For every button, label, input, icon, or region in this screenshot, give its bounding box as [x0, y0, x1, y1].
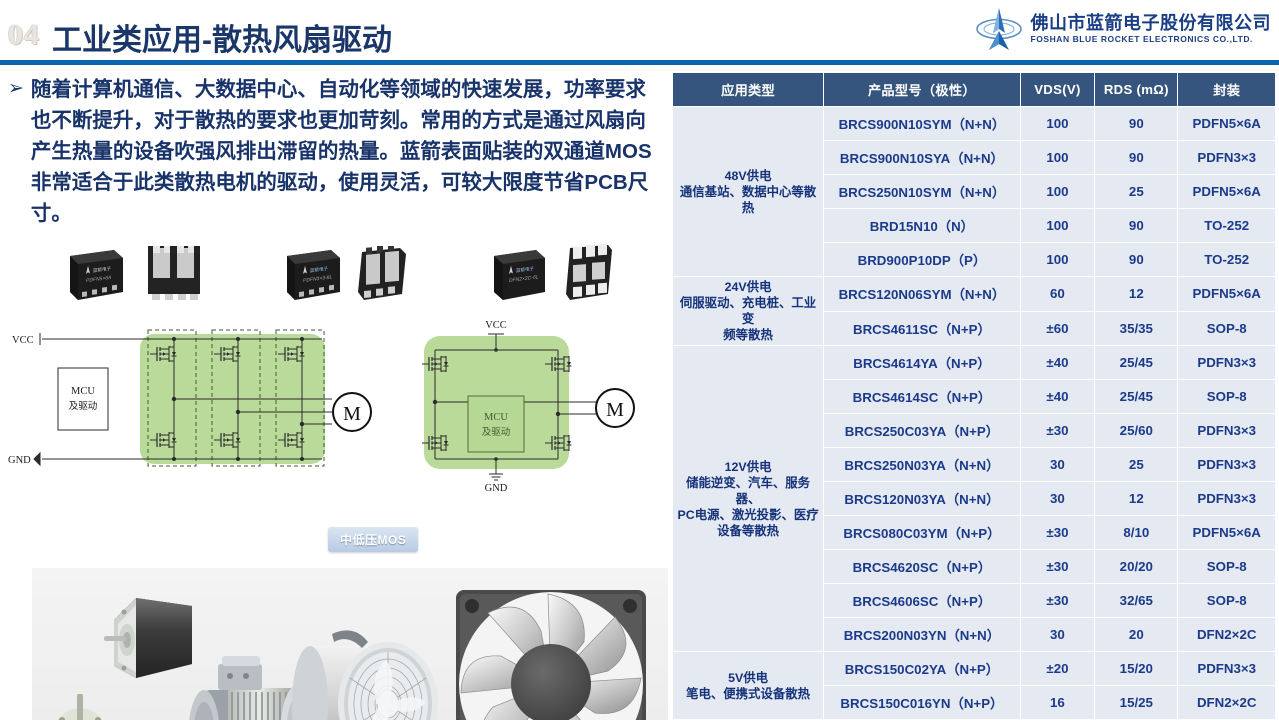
- cell-package: SOP-8: [1178, 584, 1275, 617]
- cell-part-number: BRD900P10DP（P）: [824, 243, 1020, 276]
- cell-package: PDFN5×6A: [1178, 175, 1275, 208]
- svg-text:M: M: [606, 399, 624, 421]
- cell-vds: 100: [1021, 243, 1095, 276]
- col-package: 封装: [1178, 73, 1275, 106]
- application-group-line: PC电源、激光投影、医疗: [677, 507, 819, 523]
- application-photo-band: [32, 568, 668, 720]
- cell-package: TO-252: [1178, 243, 1275, 276]
- application-group-line: 5V供电: [677, 670, 819, 686]
- svg-text:VCC: VCC: [12, 335, 34, 346]
- cell-rds: 25/45: [1095, 346, 1177, 379]
- cell-rds: 12: [1095, 277, 1177, 311]
- cell-rds: 20: [1095, 618, 1177, 651]
- svg-text:及驱动: 及驱动: [482, 427, 511, 438]
- cell-rds: 90: [1095, 209, 1177, 242]
- pdfn3x3-8l-package-pads: [352, 246, 412, 309]
- cell-part-number: BRCS4606SC（N+P）: [824, 584, 1020, 617]
- cell-vds: 100: [1021, 107, 1095, 140]
- svg-text:VCC: VCC: [485, 320, 507, 331]
- arrow-bullet-icon: ➢: [8, 74, 24, 104]
- header-accent-rule: [0, 60, 1279, 65]
- application-group-cell: 24V供电伺服驱动、充电桩、工业变频等散热: [673, 277, 823, 345]
- cell-part-number: BRCS250N03YA（N+N）: [824, 448, 1020, 481]
- cell-part-number: BRCS200N03YN（N+N）: [824, 618, 1020, 651]
- cell-vds: ±30: [1021, 414, 1095, 447]
- cell-rds: 25: [1095, 175, 1177, 208]
- cell-part-number: BRCS4611SC（N+P）: [824, 312, 1020, 346]
- svg-text:MCU: MCU: [71, 386, 95, 397]
- table-body: 48V供电通信基站、数据中心等散热BRCS900N10SYM（N+N）10090…: [673, 107, 1275, 719]
- cell-part-number: BRCS120N06SYM（N+N）: [824, 277, 1020, 311]
- page-title: 工业类应用-散热风扇驱动: [52, 15, 392, 59]
- stepper-motor: [104, 598, 192, 678]
- slide-header: 04 工业类应用-散热风扇驱动 佛山市蓝箭电子股份有限公司 FOSHAN BLU…: [0, 0, 1279, 62]
- application-group-line: 48V供电: [677, 168, 819, 184]
- cell-package: PDFN3×3: [1178, 414, 1275, 447]
- cell-package: PDFN5×6A: [1178, 277, 1275, 311]
- cell-package: TO-252: [1178, 209, 1275, 242]
- cell-part-number: BRCS900N10SYM（N+N）: [824, 107, 1020, 140]
- section-number: 04: [8, 18, 40, 52]
- application-group-line: 通信基站、数据中心等散热: [677, 184, 819, 216]
- cell-part-number: BRCS150C02YA（N+P）: [824, 652, 1020, 685]
- company-name-cn: 佛山市蓝箭电子股份有限公司: [1031, 14, 1272, 32]
- table-header-row: 应用类型 产品型号（极性） VDS(V) RDS (mΩ) 封装: [673, 73, 1275, 106]
- cell-vds: ±40: [1021, 380, 1095, 413]
- cell-vds: ±30: [1021, 516, 1095, 549]
- svg-text:M: M: [343, 403, 361, 425]
- col-rds: RDS (mΩ): [1095, 73, 1177, 106]
- intro-paragraph: 随着计算机通信、大数据中心、自动化等领域的快速发展，功率要求也不断提升，对于散热…: [31, 74, 663, 229]
- cell-rds: 90: [1095, 243, 1177, 276]
- cell-rds: 8/10: [1095, 516, 1177, 549]
- col-application-type: 应用类型: [673, 73, 823, 106]
- cell-package: SOP-8: [1178, 380, 1275, 413]
- cell-part-number: BRD15N10（N）: [824, 209, 1020, 242]
- cell-rds: 32/65: [1095, 584, 1177, 617]
- cell-vds: ±30: [1021, 584, 1095, 617]
- cell-part-number: BRCS4614SC（N+P）: [824, 380, 1020, 413]
- pdfn5x6a-package: 蓝箭电子 PDFN5×6A: [66, 248, 128, 309]
- cell-part-number: BRCS4614YA（N+P）: [824, 346, 1020, 379]
- col-vds: VDS(V): [1021, 73, 1095, 106]
- dfn2x2c-6l-package-pads: [560, 244, 620, 309]
- cell-vds: ±20: [1021, 652, 1095, 685]
- cell-package: PDFN3×3: [1178, 652, 1275, 685]
- cell-rds: 20/20: [1095, 550, 1177, 583]
- cell-vds: 60: [1021, 277, 1095, 311]
- cell-package: PDFN5×6A: [1178, 107, 1275, 140]
- cell-rds: 25/45: [1095, 380, 1177, 413]
- application-group-line: 24V供电: [677, 279, 819, 295]
- cell-part-number: BRCS250C03YA（N+P）: [824, 414, 1020, 447]
- cell-vds: ±60: [1021, 312, 1095, 346]
- application-group-line: 12V供电: [677, 459, 819, 475]
- dc-micro-motor: [54, 694, 106, 720]
- cell-rds: 15/20: [1095, 652, 1177, 685]
- cell-vds: ±30: [1021, 550, 1095, 583]
- left-content-column: ➢ 随着计算机通信、大数据中心、自动化等领域的快速发展，功率要求也不断提升，对于…: [0, 68, 668, 720]
- cell-package: PDFN3×3: [1178, 141, 1275, 174]
- table-row: 24V供电伺服驱动、充电桩、工业变频等散热BRCS120N06SYM（N+N）6…: [673, 277, 1275, 311]
- cell-vds: 30: [1021, 482, 1095, 515]
- intro-bullet: ➢ 随着计算机通信、大数据中心、自动化等领域的快速发展，功率要求也不断提升，对于…: [8, 74, 664, 229]
- cell-package: PDFN3×3: [1178, 482, 1275, 515]
- circuit-diagrams: VCC GND MCU 及驱动: [0, 304, 668, 560]
- cell-package: SOP-8: [1178, 312, 1275, 346]
- pdfn3x3-8l-package: 蓝箭电子 PDFN3×3-8L: [283, 248, 345, 309]
- svg-text:GND: GND: [8, 455, 31, 466]
- application-group-line: 储能逆变、汽车、服务器、: [677, 475, 819, 507]
- application-group-cell: 5V供电笔电、便携式设备散热: [673, 652, 823, 719]
- col-part-number: 产品型号（极性）: [824, 73, 1020, 106]
- cell-rds: 90: [1095, 107, 1177, 140]
- cell-package: PDFN5×6A: [1178, 516, 1275, 549]
- cell-part-number: BRCS080C03YM（N+P）: [824, 516, 1020, 549]
- company-name-en: FOSHAN BLUE ROCKET ELECTRONICS CO.,LTD.: [1031, 35, 1272, 44]
- application-group-cell: 12V供电储能逆变、汽车、服务器、PC电源、激光投影、医疗设备等散热: [673, 346, 823, 651]
- rocket-arrow-icon: [975, 7, 1023, 51]
- cell-vds: 100: [1021, 175, 1095, 208]
- cell-part-number: BRCS4620SC（N+P）: [824, 550, 1020, 583]
- application-group-line: 频等散热: [677, 327, 819, 343]
- table-row: 5V供电笔电、便携式设备散热BRCS150C02YA（N+P）±2015/20P…: [673, 652, 1275, 685]
- cell-part-number: BRCS150C016YN（N+P）: [824, 686, 1020, 719]
- svg-text:GND: GND: [485, 483, 508, 494]
- cell-rds: 15/25: [1095, 686, 1177, 719]
- company-name-block: 佛山市蓝箭电子股份有限公司 FOSHAN BLUE ROCKET ELECTRO…: [1031, 14, 1272, 44]
- cell-vds: 30: [1021, 448, 1095, 481]
- svg-text:及驱动: 及驱动: [69, 401, 98, 412]
- application-group-cell: 48V供电通信基站、数据中心等散热: [673, 107, 823, 276]
- axial-duct-fan: [292, 630, 438, 720]
- cell-part-number: BRCS250N10SYM（N+N）: [824, 175, 1020, 208]
- dfn2x2c-6l-package: 蓝箭电子 DFN2×2C-6L: [490, 248, 550, 309]
- cell-vds: ±40: [1021, 346, 1095, 379]
- slide-root: 04 工业类应用-散热风扇驱动 佛山市蓝箭电子股份有限公司 FOSHAN BLU…: [0, 0, 1279, 720]
- cell-package: PDFN3×3: [1178, 448, 1275, 481]
- cell-rds: 12: [1095, 482, 1177, 515]
- cell-package: DFN2×2C: [1178, 618, 1275, 651]
- cell-part-number: BRCS120N03YA（N+N）: [824, 482, 1020, 515]
- cell-rds: 25/60: [1095, 414, 1177, 447]
- product-spec-table: 应用类型 产品型号（极性） VDS(V) RDS (mΩ) 封装 48V供电通信…: [672, 72, 1276, 720]
- cell-vds: 16: [1021, 686, 1095, 719]
- application-group-line: 笔电、便携式设备散热: [677, 686, 819, 702]
- application-group-line: 伺服驱动、充电桩、工业变: [677, 295, 819, 327]
- cell-vds: 30: [1021, 618, 1095, 651]
- company-logo: 佛山市蓝箭电子股份有限公司 FOSHAN BLUE ROCKET ELECTRO…: [975, 5, 1272, 53]
- pdfn5x6a-package-pads: [140, 244, 208, 311]
- table-row: 48V供电通信基站、数据中心等散热BRCS900N10SYM（N+N）10090…: [673, 107, 1275, 140]
- cell-package: PDFN3×3: [1178, 346, 1275, 379]
- cell-vds: 100: [1021, 209, 1095, 242]
- cell-rds: 35/35: [1095, 312, 1177, 346]
- table-row: 12V供电储能逆变、汽车、服务器、PC电源、激光投影、医疗设备等散热BRCS46…: [673, 346, 1275, 379]
- cell-package: SOP-8: [1178, 550, 1275, 583]
- application-group-line: 设备等散热: [677, 523, 819, 539]
- cell-vds: 100: [1021, 141, 1095, 174]
- svg-text:MCU: MCU: [484, 412, 508, 423]
- cell-package: DFN2×2C: [1178, 686, 1275, 719]
- pc-case-cooling-fan: [456, 590, 646, 720]
- cell-rds: 90: [1095, 141, 1177, 174]
- package-photo-strip: 蓝箭电子 PDFN5×6A: [40, 244, 660, 306]
- mos-badge: 中低压MOS: [328, 527, 418, 552]
- cell-rds: 25: [1095, 448, 1177, 481]
- cell-part-number: BRCS900N10SYA（N+N）: [824, 141, 1020, 174]
